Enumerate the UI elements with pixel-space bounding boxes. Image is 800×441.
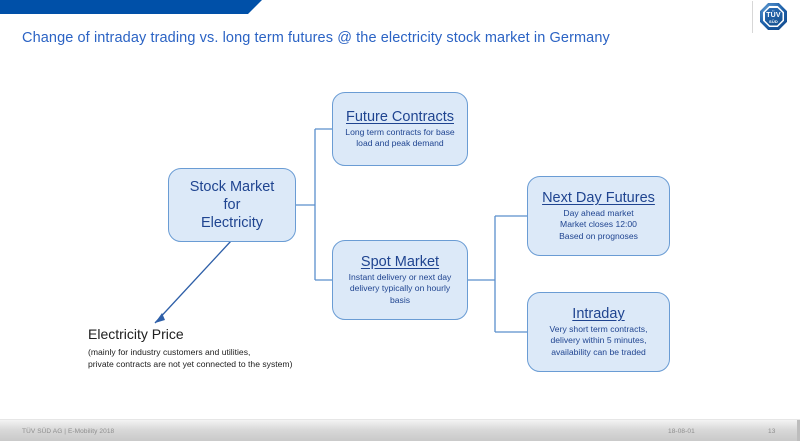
node-title-line-2: for — [190, 196, 275, 214]
node-title: Spot Market — [361, 254, 439, 271]
node-subtitle-line-3: Based on prognoses — [559, 231, 638, 242]
node-title-line-3: Electricity — [190, 214, 275, 232]
node-title-line-1: Stock Market — [190, 178, 275, 196]
node-subtitle: Long term contracts for base load and pe… — [339, 127, 461, 149]
node-subtitle: Day ahead market Market closes 12:00 Bas… — [559, 208, 638, 242]
footer-date: 18-08-01 — [668, 428, 695, 435]
node-subtitle: Very short term contracts, delivery with… — [535, 324, 663, 358]
slide-canvas: TÜV SÜD Change of intraday trading vs. l… — [0, 0, 800, 441]
node-subtitle-line-2: Market closes 12:00 — [559, 219, 638, 230]
node-subtitle: Instant delivery or next day delivery ty… — [339, 272, 461, 306]
footer-page-number: 13 — [768, 428, 775, 435]
node-title: Intraday — [572, 306, 624, 323]
annotation-heading: Electricity Price — [88, 326, 348, 343]
arrow-to-electricity-price — [155, 241, 231, 323]
annotation-note-line-2: private contracts are not yet connected … — [88, 358, 348, 370]
node-spot-market[interactable]: Spot Market Instant delivery or next day… — [332, 240, 468, 320]
diagram-connectors — [0, 0, 800, 441]
node-stock-market-for-electricity[interactable]: Stock Market for Electricity — [168, 168, 296, 242]
annotation-note: (mainly for industry customers and utili… — [88, 346, 348, 371]
electricity-price-annotation: Electricity Price (mainly for industry c… — [88, 326, 348, 371]
node-subtitle-line-1: Day ahead market — [559, 208, 638, 219]
node-next-day-futures[interactable]: Next Day Futures Day ahead market Market… — [527, 176, 670, 256]
node-title: Future Contracts — [346, 109, 454, 126]
node-future-contracts[interactable]: Future Contracts Long term contracts for… — [332, 92, 468, 166]
slide-footer: TÜV SÜD AG | E-Mobility 2018 18-08-01 13 — [0, 419, 800, 441]
node-title: Next Day Futures — [542, 190, 655, 207]
annotation-note-line-1: (mainly for industry customers and utili… — [88, 346, 348, 358]
footer-company-text: TÜV SÜD AG | E-Mobility 2018 — [22, 428, 114, 435]
node-title: Stock Market for Electricity — [190, 178, 275, 233]
node-intraday[interactable]: Intraday Very short term contracts, deli… — [527, 292, 670, 372]
